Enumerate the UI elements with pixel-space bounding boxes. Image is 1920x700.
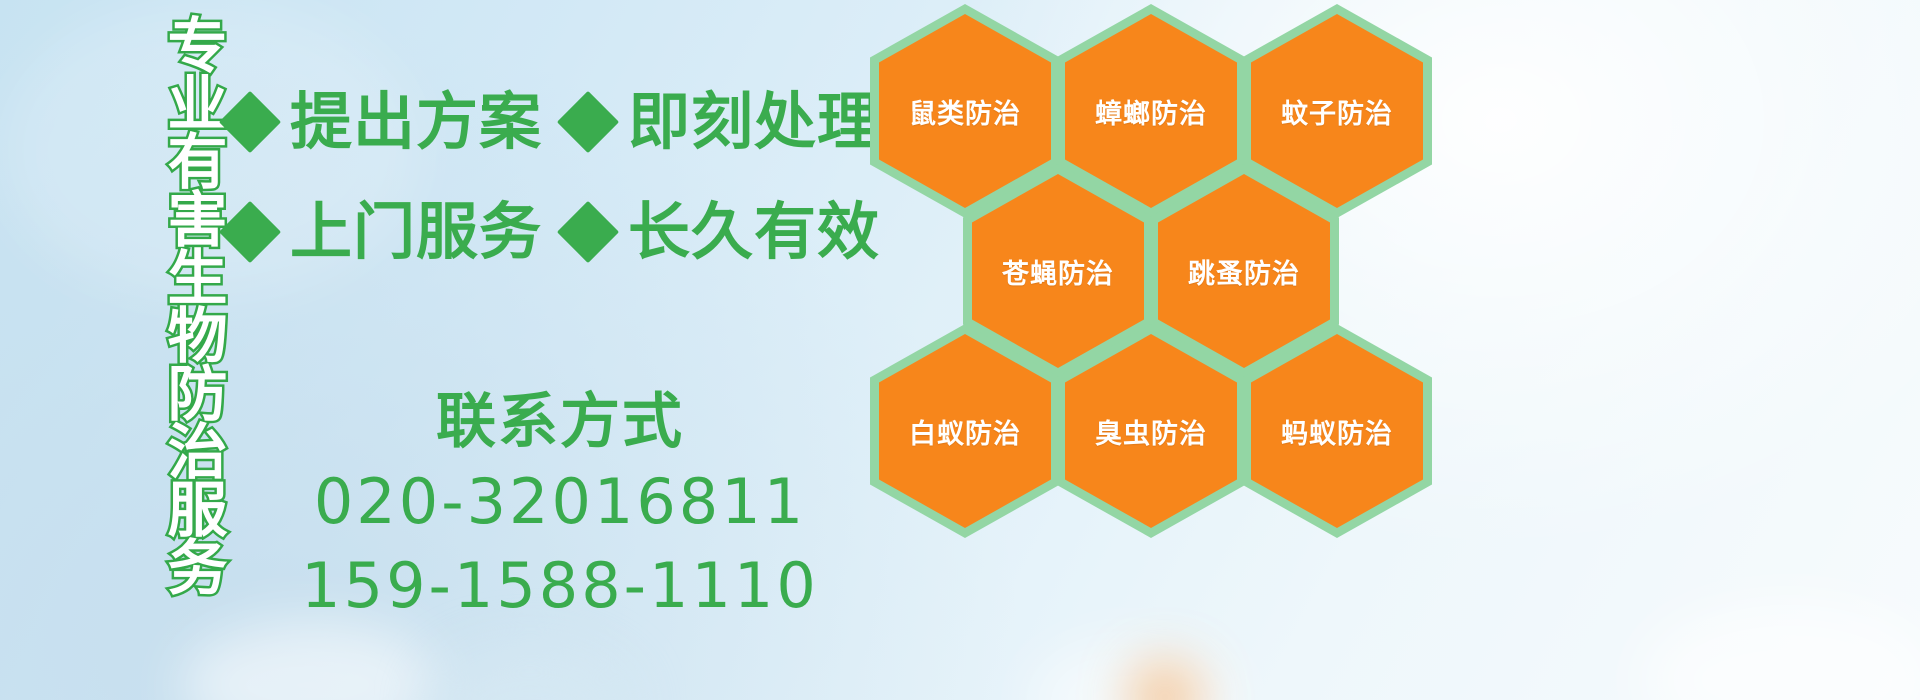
- background-blur-shape: [180, 620, 440, 700]
- hex-inner: 苍蝇防治: [972, 174, 1144, 368]
- feature-item-immediate: 即刻处理: [566, 86, 880, 158]
- hex-inner: 臭虫防治: [1065, 334, 1237, 528]
- service-label: 蚊子防治: [1281, 92, 1393, 131]
- hex-inner: 蚊子防治: [1251, 14, 1423, 208]
- feature-item-onsite: 上门服务: [228, 196, 542, 268]
- contact-block: 联系方式 020-32016811 159-1588-1110: [260, 384, 860, 628]
- hex-inner: 白蚁防治: [879, 334, 1051, 528]
- feature-row-2: 上门服务 长久有效: [228, 196, 880, 268]
- diamond-icon: [557, 91, 619, 153]
- contact-title: 联系方式: [260, 384, 860, 460]
- hex-inner: 蚂蚁防治: [1251, 334, 1423, 528]
- promo-banner: 专业有害生物防治服务 提出方案 即刻处理 上门服务 长久有效 联系方式 020-…: [0, 0, 1920, 700]
- phone-landline[interactable]: 020-32016811: [260, 460, 860, 544]
- background-blur-shape: [430, 648, 630, 700]
- service-honeycomb: 鼠类防治 蟑螂防治 蚊子防治 苍蝇防治 跳蚤防治 白蚁防治: [862, 0, 1442, 554]
- diamond-icon: [557, 201, 619, 263]
- background-blur-shape: [1640, 600, 1920, 700]
- vertical-headline: 专业有害生物防治服务: [110, 14, 222, 594]
- diamond-icon: [219, 201, 281, 263]
- service-label: 蚂蚁防治: [1281, 412, 1393, 451]
- hex-inner: 跳蚤防治: [1158, 174, 1330, 368]
- feature-item-proposal: 提出方案: [228, 86, 542, 158]
- feature-row-1: 提出方案 即刻处理: [228, 86, 880, 158]
- service-label: 蟑螂防治: [1095, 92, 1207, 131]
- service-label: 白蚁防治: [909, 412, 1021, 451]
- service-label: 跳蚤防治: [1188, 252, 1300, 291]
- hex-inner: 鼠类防治: [879, 14, 1051, 208]
- diamond-icon: [219, 91, 281, 153]
- feature-label: 即刻处理: [628, 86, 880, 158]
- service-label: 臭虫防治: [1095, 412, 1207, 451]
- phone-mobile[interactable]: 159-1588-1110: [260, 544, 860, 628]
- feature-label: 上门服务: [290, 196, 542, 268]
- service-label: 苍蝇防治: [1002, 252, 1114, 291]
- background-blur-shape: [1030, 640, 1240, 700]
- hex-inner: 蟑螂防治: [1065, 14, 1237, 208]
- service-label: 鼠类防治: [909, 92, 1021, 131]
- feature-label: 提出方案: [290, 86, 542, 158]
- background-blur-shape: [1130, 662, 1200, 700]
- feature-item-longlasting: 长久有效: [566, 196, 880, 268]
- feature-label: 长久有效: [628, 196, 880, 268]
